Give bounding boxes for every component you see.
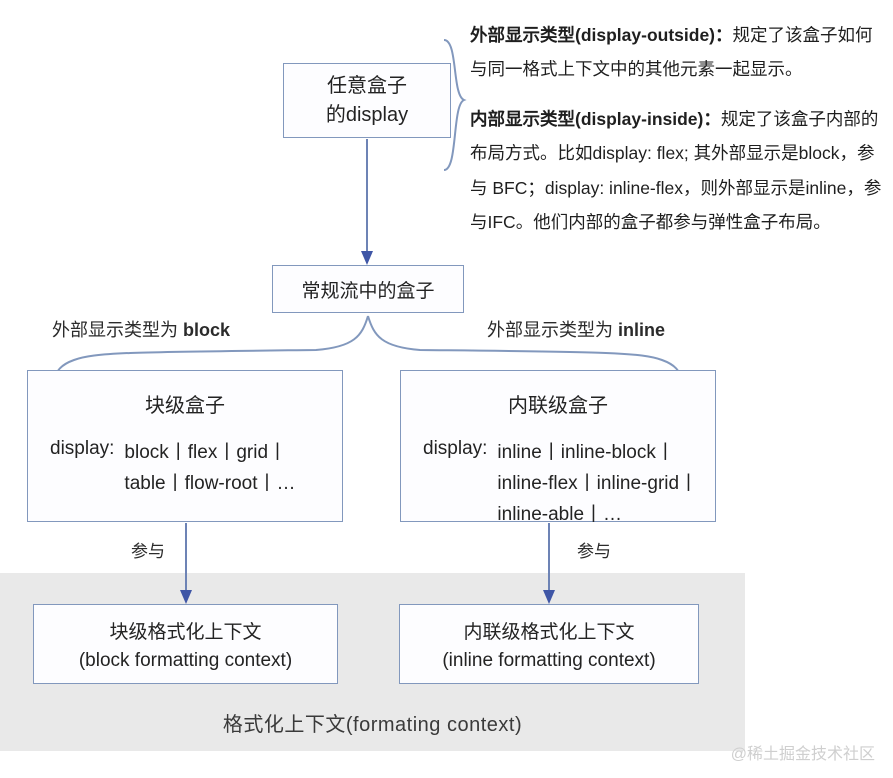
node-normal-flow-label: 常规流中的盒子 [301, 276, 434, 303]
node-inline-box: 内联级盒子 display: inline丨inline-block丨 inli… [400, 370, 716, 522]
annotation-notes: 外部显示类型(display-outside)：规定了该盒子如何与同一格式上下文… [470, 18, 888, 255]
node-ifc-box: 内联级格式化上下文 (inline formatting context) [399, 604, 699, 684]
node-ifc-line2: (inline formatting context) [442, 650, 655, 672]
node-bfc-box: 块级格式化上下文 (block formatting context) [33, 604, 338, 684]
formatting-context-band-label: 格式化上下文(formating context) [0, 708, 745, 737]
edge-label-right-branch: 外部显示类型为 inline [487, 316, 665, 342]
node-block-box-title: 块级盒子 [145, 389, 225, 418]
edge-label-right-prefix: 外部显示类型为 [487, 320, 618, 340]
node-bfc-line1: 块级格式化上下文 [109, 617, 261, 644]
note-display-inside: 内部显示类型(display-inside)：规定了该盒子内部的布局方式。比如d… [470, 102, 888, 239]
note-display-outside: 外部显示类型(display-outside)：规定了该盒子如何与同一格式上下文… [470, 18, 888, 86]
note-display-inside-term: 内部显示类型(display-inside)： [470, 109, 721, 129]
node-any-box-line1: 任意盒子 [327, 72, 407, 101]
node-block-box-key: display: [50, 438, 114, 460]
node-block-box-value-list: block丨flex丨grid丨 table丨flow-root丨… [124, 438, 295, 500]
note-display-outside-term: 外部显示类型(display-outside)： [470, 25, 733, 45]
edge-label-left-branch: 外部显示类型为 block [52, 316, 230, 342]
node-inline-box-value-line3: inline-able丨… [497, 500, 698, 531]
node-inline-box-values: display: inline丨inline-block丨 inline-fle… [401, 438, 715, 530]
node-ifc-line1: 内联级格式化上下文 [463, 617, 634, 644]
edge-label-left-prefix: 外部显示类型为 [52, 320, 183, 340]
node-any-box-line2: 的display [326, 101, 408, 130]
edge-label-left-value: block [183, 320, 230, 340]
watermark: @稀土掘金技术社区 [731, 740, 875, 764]
node-block-box: 块级盒子 display: block丨flex丨grid丨 table丨flo… [27, 370, 343, 522]
node-inline-box-value-list: inline丨inline-block丨 inline-flex丨inline-… [497, 438, 698, 530]
node-any-box: 任意盒子 的display [283, 63, 451, 138]
node-normal-flow-box: 常规流中的盒子 [272, 265, 464, 313]
edge-label-join-right: 参与 [577, 537, 611, 562]
node-inline-box-value-line1: inline丨inline-block丨 [497, 438, 698, 469]
arrow-any-to-normal [361, 139, 373, 265]
node-inline-box-value-line2: inline-flex丨inline-grid丨 [497, 469, 698, 500]
node-block-box-value-line1: block丨flex丨grid丨 [124, 438, 295, 469]
edge-label-join-left: 参与 [131, 537, 165, 562]
node-block-box-values: display: block丨flex丨grid丨 table丨flow-roo… [28, 438, 342, 500]
node-block-box-value-line2: table丨flow-root丨… [124, 469, 295, 500]
node-inline-box-title: 内联级盒子 [508, 389, 608, 418]
diagram-canvas: 格式化上下文(formating context) 任意盒子 的d [0, 0, 893, 778]
edge-label-right-value: inline [618, 320, 665, 340]
node-bfc-line2: (block formatting context) [79, 650, 292, 672]
node-inline-box-key: display: [423, 438, 487, 460]
